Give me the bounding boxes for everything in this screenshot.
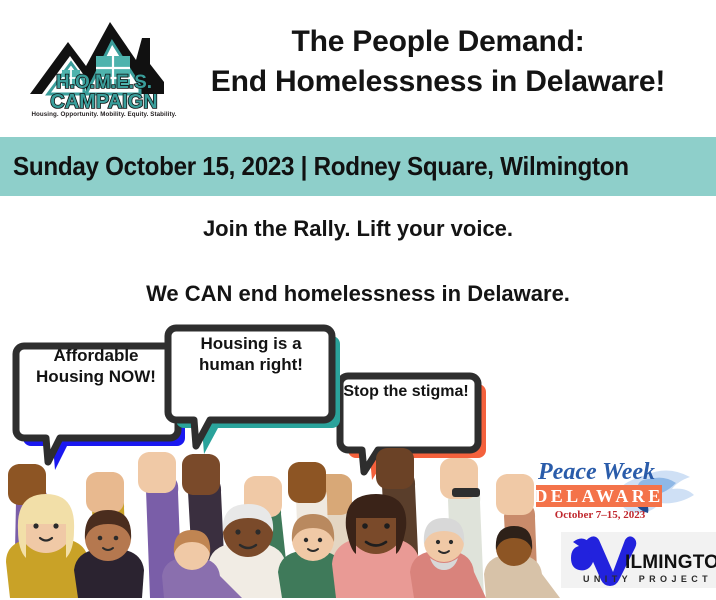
event-details-banner: Sunday October 15, 2023 | Rodney Square,…	[0, 137, 716, 196]
wilmington-unity-project-logo: ILMINGTON UNITY PROJECT	[561, 532, 716, 588]
logo-wordmark-line1: H.O.M.E.S.	[56, 72, 152, 93]
title-line-2: End Homelessness in Delaware!	[176, 62, 700, 102]
bubble-text-human-right: Housing is a human right!	[175, 334, 327, 375]
poster-canvas: H.O.M.E.S. CAMPAIGN Housing. Opportunity…	[0, 0, 716, 600]
title-line-1: The People Demand:	[176, 22, 700, 62]
poster-header: H.O.M.E.S. CAMPAIGN Housing. Opportunity…	[0, 0, 716, 137]
call-to-action-line-2: We CAN end homelessness in Delaware.	[0, 281, 716, 307]
protester-2	[74, 510, 144, 598]
crowd-raised-fists-icon	[0, 430, 560, 600]
wilmington-unity-project-logo-icon: ILMINGTON UNITY PROJECT	[561, 532, 716, 588]
peace-week-delaware-logo-icon: Peace Week DELAWARE October 7–15, 2023	[534, 455, 716, 523]
poster-title: The People Demand: End Homelessness in D…	[176, 22, 700, 101]
logo-tagline: Housing. Opportunity. Mobility. Equity. …	[24, 111, 184, 118]
homes-campaign-logo: H.O.M.E.S. CAMPAIGN Housing. Opportunity…	[24, 8, 184, 126]
bubble-text-stop-stigma: Stop the stigma!	[340, 382, 472, 402]
protester-7	[484, 526, 560, 598]
wilmington-wordmark: ILMINGTON	[625, 552, 716, 573]
unity-project-wordmark: UNITY PROJECT	[583, 574, 712, 584]
peace-week-script: Peace Week	[537, 459, 655, 485]
event-details-text: Sunday October 15, 2023 | Rodney Square,…	[0, 151, 629, 182]
delaware-band-text: DELAWARE	[534, 486, 663, 506]
homes-campaign-logo-icon: H.O.M.E.S. CAMPAIGN	[24, 8, 184, 126]
peace-week-dates: October 7–15, 2023	[555, 509, 646, 521]
logo-wordmark-line2: CAMPAIGN	[50, 91, 157, 113]
peace-week-delaware-logo: Peace Week DELAWARE October 7–15, 2023	[534, 455, 716, 523]
call-to-action-line-1: Join the Rally. Lift your voice.	[0, 216, 716, 242]
bubble-text-affordable-housing: Affordable Housing NOW!	[22, 346, 170, 387]
crowd-illustration	[0, 430, 560, 600]
